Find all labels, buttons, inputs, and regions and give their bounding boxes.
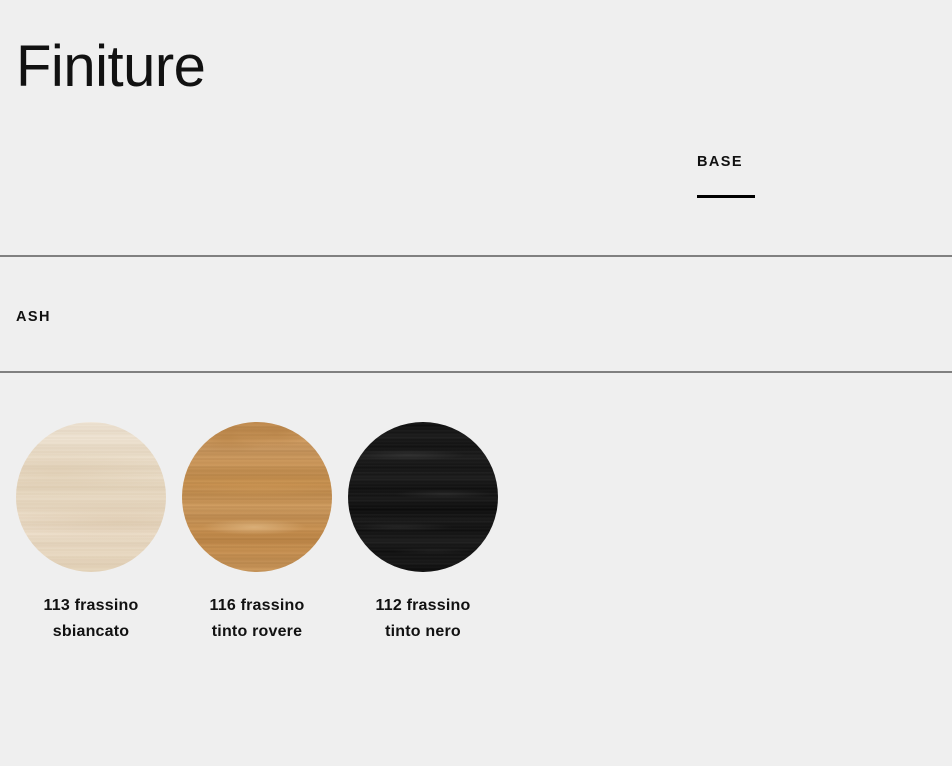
wood-grain-texture-116 bbox=[182, 422, 332, 572]
swatch-label-112-line1: 112 frassino bbox=[376, 597, 471, 614]
divider-top bbox=[0, 255, 952, 257]
section-label-ash: ASH bbox=[16, 309, 51, 325]
finishes-page: Finiture BASE ASH 113 frassino sbiancato… bbox=[0, 0, 952, 766]
wood-grain-texture-113 bbox=[16, 422, 166, 572]
page-title: Finiture bbox=[16, 33, 205, 101]
swatch-112-frassino-tinto-nero[interactable]: 112 frassino tinto nero bbox=[348, 422, 498, 645]
swatch-disc-112[interactable] bbox=[348, 422, 498, 572]
swatch-label-113: 113 frassino sbiancato bbox=[11, 593, 171, 645]
swatch-label-112-line2: tinto nero bbox=[385, 623, 461, 640]
wood-grain-texture-112 bbox=[348, 422, 498, 572]
tab-bar: BASE bbox=[697, 153, 755, 198]
swatch-113-frassino-sbiancato[interactable]: 113 frassino sbiancato bbox=[16, 422, 166, 645]
swatch-label-116: 116 frassino tinto rovere bbox=[177, 593, 337, 645]
tab-base[interactable]: BASE bbox=[697, 153, 743, 171]
swatch-label-116-line2: tinto rovere bbox=[212, 623, 302, 640]
swatch-label-112: 112 frassino tinto nero bbox=[343, 593, 503, 645]
swatch-list: 113 frassino sbiancato 116 frassino tint… bbox=[16, 422, 498, 645]
swatch-label-116-line1: 116 frassino bbox=[210, 597, 305, 614]
swatch-label-113-line2: sbiancato bbox=[53, 623, 130, 640]
divider-bottom bbox=[0, 371, 952, 373]
swatch-disc-116[interactable] bbox=[182, 422, 332, 572]
swatch-disc-113[interactable] bbox=[16, 422, 166, 572]
swatch-label-113-line1: 113 frassino bbox=[44, 597, 139, 614]
swatch-116-frassino-tinto-rovere[interactable]: 116 frassino tinto rovere bbox=[182, 422, 332, 645]
tab-active-indicator bbox=[697, 195, 755, 198]
